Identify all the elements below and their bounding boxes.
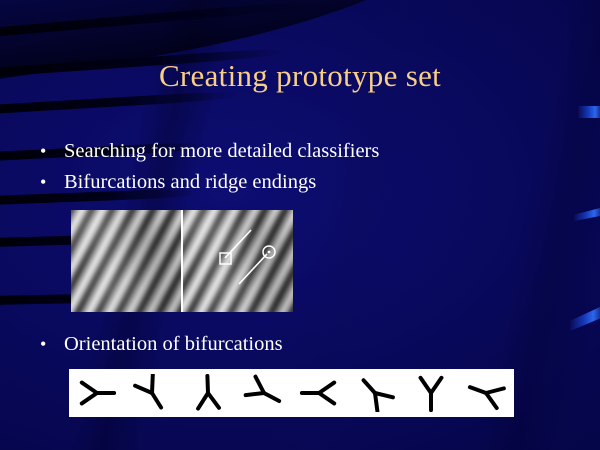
ridge-ending-direction-line [225, 230, 251, 258]
bifurcation-glyph [409, 374, 453, 412]
slide-title: Creating prototype set [0, 57, 600, 95]
bullet-dot-icon: • [40, 329, 64, 360]
bullet-item: • Bifurcations and ridge endings [40, 167, 379, 198]
bullet-item: • Searching for more detailed classifier… [40, 136, 379, 167]
minutiae-overlay [183, 210, 293, 312]
fingerprint-patch-annotated [183, 210, 293, 312]
bullet-dot-icon: • [40, 136, 64, 167]
presentation-slide: Creating prototype set • Searching for m… [0, 0, 600, 450]
fingerprint-patch-plain [71, 210, 181, 312]
bifurcation-glyph [130, 374, 174, 412]
bullet-item-orientation: • Orientation of bifurcations [40, 329, 283, 360]
accent-ribbon-icon [578, 106, 600, 118]
bullet-list-top: • Searching for more detailed classifier… [40, 136, 379, 198]
bullet-text: Searching for more detailed classifiers [64, 136, 379, 167]
bifurcation-glyph [75, 374, 119, 412]
bifurcation-glyph [464, 374, 508, 412]
bifurcation-orientation-strip [69, 369, 514, 417]
bifurcation-glyph [353, 374, 397, 412]
bifurcation-marker-center [268, 251, 271, 254]
bifurcation-glyph [297, 374, 341, 412]
ridge-shading [71, 210, 181, 312]
fingerprint-image-pair [71, 210, 293, 312]
bifurcation-glyph [186, 374, 230, 412]
bullet-dot-icon: • [40, 167, 64, 198]
bullet-text: Orientation of bifurcations [64, 329, 283, 360]
ridge-ending-marker-icon [220, 253, 231, 264]
bifurcation-glyph [242, 374, 286, 412]
bifurcation-direction-line [239, 254, 267, 284]
bullet-text: Bifurcations and ridge endings [64, 167, 316, 198]
